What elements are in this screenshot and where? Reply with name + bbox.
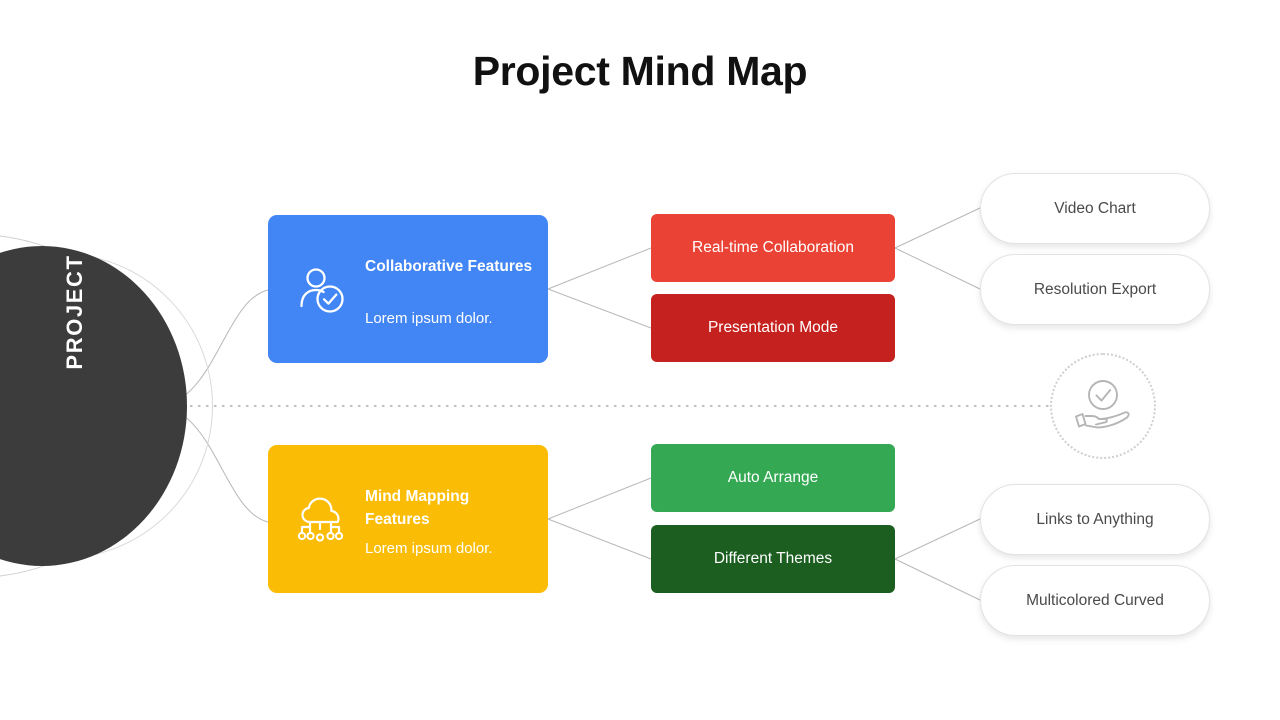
branch-title: Collaborative Features — [365, 255, 533, 278]
branch-card-collaborative[interactable]: Collaborative Features Lorem ipsum dolor… — [268, 215, 548, 363]
leaf-pill-multicolored-curved[interactable]: Multicolored Curved — [980, 565, 1210, 636]
leaf-label: Resolution Export — [1034, 281, 1156, 299]
topic-label: Auto Arrange — [728, 469, 818, 487]
hand-check-icon — [1072, 378, 1134, 434]
hub-node-dot — [149, 398, 166, 415]
user-check-icon — [296, 265, 348, 317]
branch-subtitle: Lorem ipsum dolor. — [365, 310, 540, 327]
topic-card-realtime-collaboration[interactable]: Real-time Collaboration — [651, 214, 895, 282]
hub-label: PROJECT — [63, 202, 87, 422]
topic-label: Presentation Mode — [708, 319, 838, 337]
branch-card-mind-mapping[interactable]: Mind Mapping Features Lorem ipsum dolor. — [268, 445, 548, 593]
branch-title: Mind Mapping Features — [365, 485, 533, 531]
leaf-pill-video-chart[interactable]: Video Chart — [980, 173, 1210, 244]
topic-card-different-themes[interactable]: Different Themes — [651, 525, 895, 593]
topic-label: Different Themes — [714, 550, 832, 568]
topic-card-auto-arrange[interactable]: Auto Arrange — [651, 444, 895, 512]
topic-label: Real-time Collaboration — [692, 239, 854, 257]
leaf-label: Multicolored Curved — [1026, 592, 1164, 610]
cloud-network-icon — [296, 495, 348, 547]
leaf-label: Video Chart — [1054, 200, 1136, 218]
leaf-pill-links-to-anything[interactable]: Links to Anything — [980, 484, 1210, 555]
mind-map-canvas: Project Mind Map PROJECT — [0, 0, 1280, 720]
leaf-pill-resolution-export[interactable]: Resolution Export — [980, 254, 1210, 325]
leaf-label: Links to Anything — [1036, 511, 1153, 529]
topic-card-presentation-mode[interactable]: Presentation Mode — [651, 294, 895, 362]
branch-subtitle: Lorem ipsum dolor. — [365, 540, 540, 557]
